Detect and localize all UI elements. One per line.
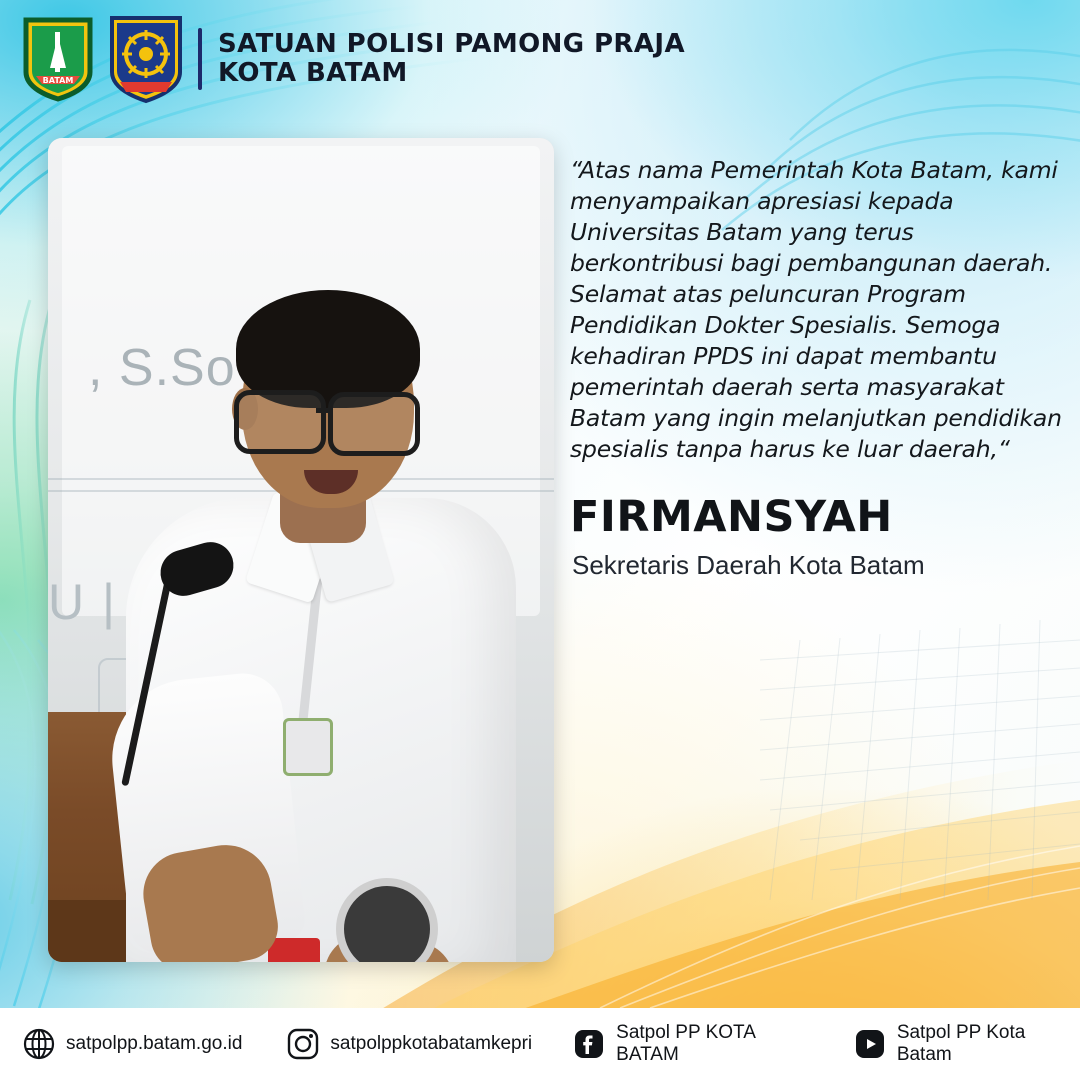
photo-person-glasses-icon (228, 390, 428, 446)
speaker-photo: , S.So U | UNIV (48, 138, 554, 962)
speaker-role: Sekretaris Daerah Kota Batam (572, 550, 925, 581)
org-name-line2: KOTA BATAM (218, 59, 685, 88)
footer-website-label: satpolpp.batam.go.id (66, 1033, 242, 1055)
lambang-kota-batam-icon: BATAM (22, 16, 94, 102)
poster-canvas: BATAM SATUAN POLISI PAMONG PRAJA KOTA BA… (0, 0, 1080, 1080)
photo-person-id-card (268, 938, 320, 962)
youtube-icon (853, 1027, 887, 1061)
footer-facebook-label: Satpol PP KOTA BATAM (616, 1022, 817, 1066)
speaker-name: FIRMANSYAH (570, 492, 893, 542)
instagram-icon (286, 1027, 320, 1061)
footer-facebook[interactable]: Satpol PP KOTA BATAM (572, 1022, 817, 1066)
footer-website[interactable]: satpolpp.batam.go.id (22, 1027, 242, 1061)
globe-icon (22, 1027, 56, 1061)
photo-person-badge (283, 718, 333, 776)
org-name-line1: SATUAN POLISI PAMONG PRAJA (218, 30, 685, 59)
facebook-icon (572, 1027, 606, 1061)
footer-instagram-label: satpolppkotabatamkepri (330, 1033, 532, 1055)
quote-text: “Atas nama Pemerintah Kota Batam, kami m… (570, 155, 1070, 465)
photo-person (108, 248, 528, 962)
header-divider (198, 28, 202, 90)
lambang-satpol-pp-icon (108, 14, 184, 104)
svg-text:BATAM: BATAM (43, 76, 74, 85)
poster-header: BATAM SATUAN POLISI PAMONG PRAJA KOTA BA… (0, 0, 1080, 118)
poster-footer: satpolpp.batam.go.id satpolppkotabatamke… (0, 1008, 1080, 1080)
footer-youtube[interactable]: Satpol PP Kota Batam (853, 1022, 1080, 1066)
header-title-group: SATUAN POLISI PAMONG PRAJA KOTA BATAM (218, 30, 685, 88)
quote-container: “Atas nama Pemerintah Kota Batam, kami m… (570, 155, 1070, 465)
footer-instagram[interactable]: satpolppkotabatamkepri (286, 1027, 532, 1061)
footer-youtube-label: Satpol PP Kota Batam (897, 1022, 1080, 1066)
